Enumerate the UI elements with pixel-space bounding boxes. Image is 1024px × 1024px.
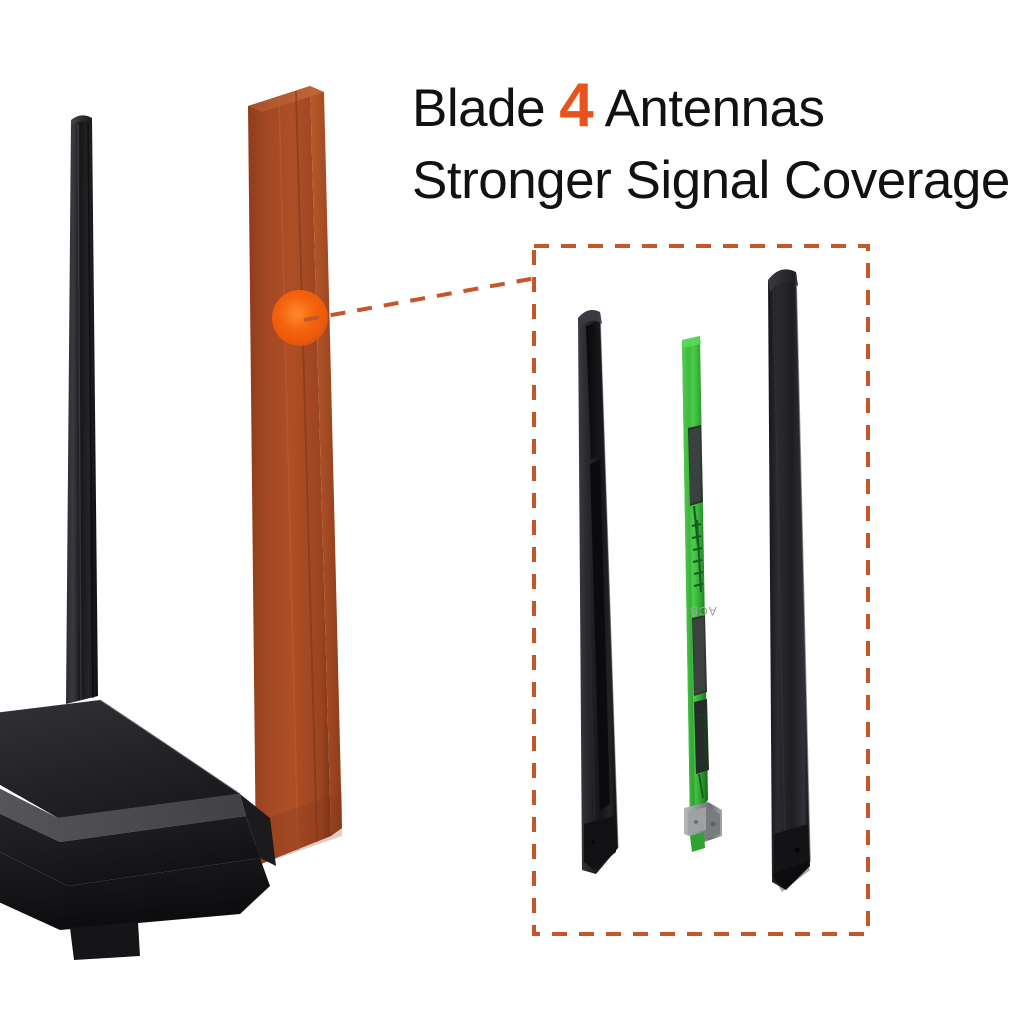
product-graphic-canvas: Blade 4 Antennas Stronger Signal Coverag… [0,0,1024,1024]
pcb-marking-text: ACB [689,604,717,618]
router-chassis [0,690,320,960]
headline-line-2: Stronger Signal Coverage [412,147,1012,216]
attached-blade-antenna [58,108,118,708]
headline-line1-before: Blade [412,79,559,138]
antenna-pcb-part [668,330,730,855]
antenna-back-shell-part [566,304,630,880]
headline-line-1: Blade 4 Antennas [412,66,1012,147]
antenna-front-shell-part [752,262,824,902]
headline-accent-number: 4 [559,71,593,140]
headline-line1-after: Antennas [593,79,824,138]
headline-block: Blade 4 Antennas Stronger Signal Coverag… [412,66,1012,215]
highlight-marker-dot [272,290,328,346]
